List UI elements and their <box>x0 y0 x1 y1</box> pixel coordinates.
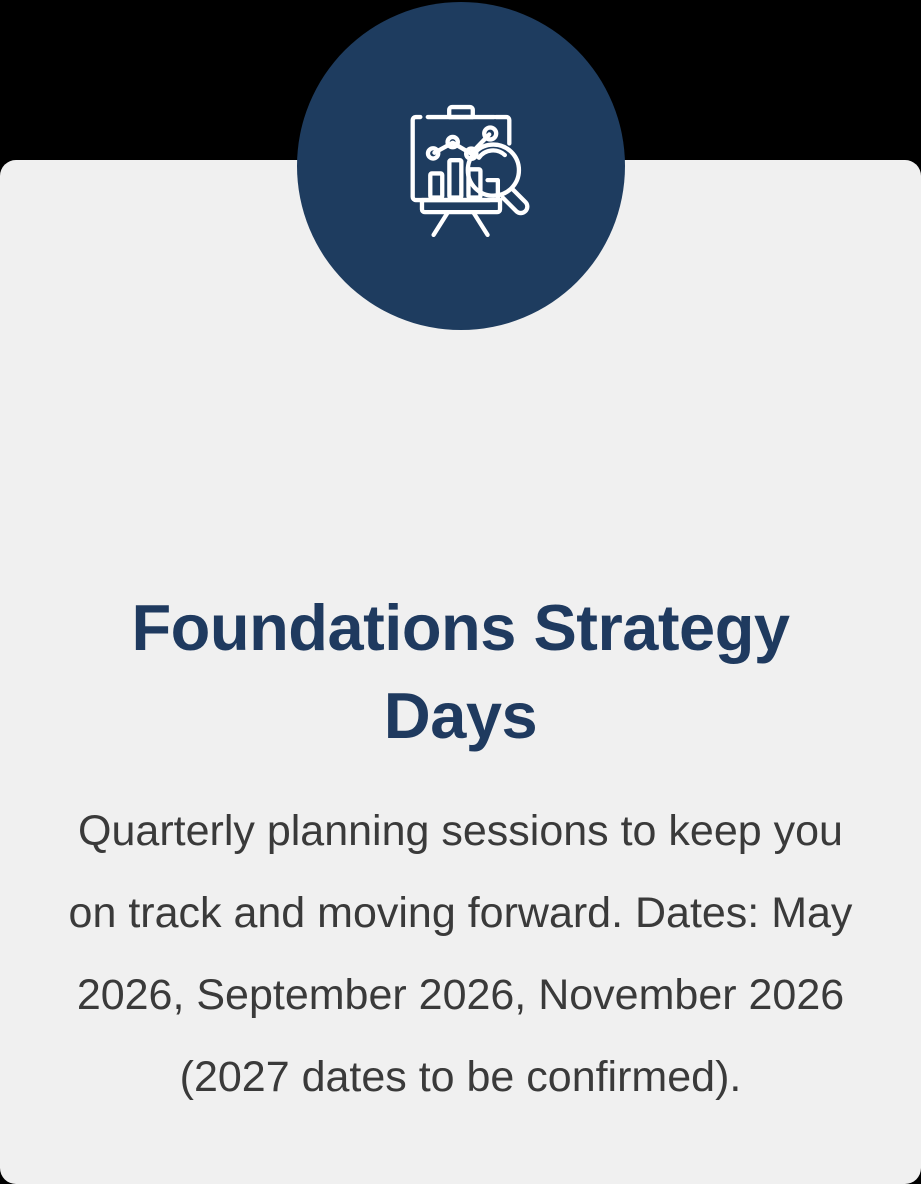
chart-bar-2-icon <box>449 160 461 197</box>
card-title-container: Foundations Strategy Days <box>0 584 921 760</box>
easel-leg-right-icon <box>473 212 487 234</box>
card-description: Quarterly planning sessions to keep you … <box>62 790 859 1118</box>
card-description-container: Quarterly planning sessions to keep you … <box>0 790 921 1118</box>
easel-leg-left-icon <box>434 212 448 234</box>
chart-bar-1-icon <box>430 173 442 197</box>
board-frame-right-icon <box>496 117 509 143</box>
easel-tray-icon <box>422 200 500 212</box>
magnifier-glint-icon <box>479 150 505 157</box>
page-title: Foundations Strategy Days <box>100 584 821 760</box>
chart-line-icon <box>434 134 489 153</box>
presentation-board-analytics-magnifier-icon <box>378 83 544 249</box>
page-root: Foundations Strategy Days Quarterly plan… <box>0 0 921 1184</box>
presentation-board-analytics-magnifier-icon-badge <box>297 2 625 330</box>
